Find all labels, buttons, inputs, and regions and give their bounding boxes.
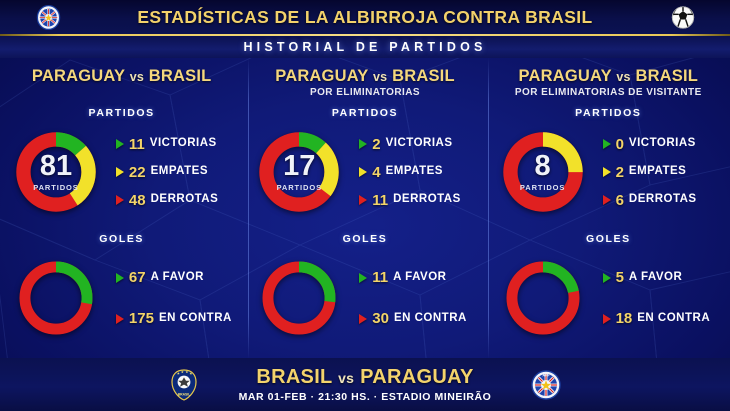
legend-label: EN CONTRA xyxy=(637,313,710,325)
section-label-goals: GOLES xyxy=(487,233,730,245)
green-triangle-icon xyxy=(359,139,367,149)
legend-row: 6 DERROTAS xyxy=(603,193,730,208)
green-triangle-icon xyxy=(116,139,124,149)
legend-value: 22 xyxy=(129,165,146,180)
column-title: PARAGUAY vs BRASIL xyxy=(243,67,486,86)
goals-donut-chart xyxy=(258,257,340,339)
footer-inner: ★★★★ BRASIL BRASIL vs PARAGUAY MAR 01-FE… xyxy=(167,366,564,403)
legend-value: 18 xyxy=(616,311,633,326)
goals-legend: 67 A FAVOR 175 EN CONTRA xyxy=(112,270,243,326)
legend-value: 11 xyxy=(129,137,145,152)
goals-donut-wrap xyxy=(0,257,112,339)
soccer-ball-icon xyxy=(668,4,698,31)
goals-legend: 5 A FAVOR 18 EN CONTRA xyxy=(599,270,730,326)
matches-donut-chart: 81 PARTIDOS xyxy=(13,129,99,215)
legend-label: DERROTAS xyxy=(629,194,697,206)
legend-label: VICTORIAS xyxy=(150,138,217,150)
legend-value: 5 xyxy=(616,270,624,285)
legend-value: 2 xyxy=(616,165,624,180)
legend-row: 48 DERROTAS xyxy=(116,193,243,208)
legend-value: 67 xyxy=(129,270,146,285)
footer-title: BRASIL vs PARAGUAY xyxy=(239,366,492,389)
section-label-goals: GOLES xyxy=(243,233,486,245)
column-subtitle: POR ELIMINATORIAS DE VISITANTE xyxy=(487,87,730,99)
goals-block: 67 A FAVOR 175 EN CONTRA xyxy=(0,245,243,351)
section-label-goals: GOLES xyxy=(0,233,243,245)
stats-column-qualifiers-away: PARAGUAY vs BRASIL POR ELIMINATORIAS DE … xyxy=(487,58,730,358)
legend-value: 48 xyxy=(129,193,146,208)
legend-label: A FAVOR xyxy=(393,272,446,284)
green-triangle-icon xyxy=(603,139,611,149)
legend-row: 30 EN CONTRA xyxy=(359,311,486,326)
legend-row: 67 A FAVOR xyxy=(116,270,243,285)
matches-donut-chart: 17 PARTIDOS xyxy=(256,129,342,215)
matches-block: 17 PARTIDOS 2 VICTORIAS 4 EMPATES xyxy=(243,119,486,225)
red-triangle-icon xyxy=(359,195,367,205)
goals-block: 11 A FAVOR 30 EN CONTRA xyxy=(243,245,486,351)
legend-row: 5 A FAVOR xyxy=(603,270,730,285)
apf-paraguay-crest-icon: APF xyxy=(32,4,65,31)
svg-text:BRASIL: BRASIL xyxy=(177,392,190,396)
legend-value: 30 xyxy=(372,311,389,326)
legend-label: A FAVOR xyxy=(629,272,682,284)
svg-text:★: ★ xyxy=(188,371,192,375)
svg-text:APF: APF xyxy=(543,373,551,377)
legend-row: 0 VICTORIAS xyxy=(603,137,730,152)
legend-label: EMPATES xyxy=(629,166,686,178)
legend-label: EMPATES xyxy=(151,166,208,178)
goals-block: 5 A FAVOR 18 EN CONTRA xyxy=(487,245,730,351)
legend-label: EN CONTRA xyxy=(394,313,467,325)
legend-label: EN CONTRA xyxy=(159,313,232,325)
column-vs: vs xyxy=(130,70,144,84)
legend-row: 2 VICTORIAS xyxy=(359,137,486,152)
svg-text:APF: APF xyxy=(45,7,51,11)
matches-legend: 0 VICTORIAS 2 EMPATES 6 DERROTAS xyxy=(599,137,730,208)
legend-label: DERROTAS xyxy=(393,194,461,206)
legend-label: VICTORIAS xyxy=(629,138,696,150)
matches-legend: 2 VICTORIAS 4 EMPATES 11 DERROTAS xyxy=(355,137,486,208)
matches-legend: 11 VICTORIAS 22 EMPATES 48 DERROTAS xyxy=(112,137,243,208)
column-vs: vs xyxy=(616,70,630,84)
matches-donut-wrap: 81 PARTIDOS xyxy=(0,129,112,215)
legend-label: A FAVOR xyxy=(151,272,204,284)
red-triangle-icon xyxy=(116,195,124,205)
footer-meta: MAR 01-FEB · 21:30 HS. · ESTADIO MINEIRÃ… xyxy=(239,391,492,403)
legend-row: 175 EN CONTRA xyxy=(116,311,243,326)
green-triangle-icon xyxy=(116,273,124,283)
column-team-b: BRASIL xyxy=(392,67,455,85)
apf-paraguay-crest-icon: APF xyxy=(529,368,563,402)
goals-legend: 11 A FAVOR 30 EN CONTRA xyxy=(355,270,486,326)
cbf-brasil-crest-icon: ★★★★ BRASIL xyxy=(167,368,201,402)
matches-donut-chart: 8 PARTIDOS xyxy=(500,129,586,215)
section-label-matches: PARTIDOS xyxy=(0,107,243,119)
legend-value: 11 xyxy=(372,193,388,208)
legend-row: 2 EMPATES xyxy=(603,165,730,180)
legend-label: VICTORIAS xyxy=(386,138,453,150)
column-subtitle xyxy=(0,87,243,99)
legend-value: 2 xyxy=(372,137,380,152)
column-vs: vs xyxy=(373,70,387,84)
matches-block: 81 PARTIDOS 11 VICTORIAS 22 EMPATES xyxy=(0,119,243,225)
footer-team-b: PARAGUAY xyxy=(360,366,474,388)
legend-row: 11 DERROTAS xyxy=(359,193,486,208)
matches-block: 8 PARTIDOS 0 VICTORIAS 2 EMPATES xyxy=(487,119,730,225)
goals-donut-wrap xyxy=(243,257,355,339)
column-team-b: BRASIL xyxy=(149,67,212,85)
legend-row: 11 A FAVOR xyxy=(359,270,486,285)
legend-row: 11 VICTORIAS xyxy=(116,137,243,152)
legend-row: 4 EMPATES xyxy=(359,165,486,180)
svg-text:★: ★ xyxy=(184,369,188,373)
stats-column-overall: PARAGUAY vs BRASIL PARTIDOS 81 xyxy=(0,58,243,358)
stats-columns: PARAGUAY vs BRASIL PARTIDOS 81 xyxy=(0,58,730,358)
matches-donut-wrap: 17 PARTIDOS xyxy=(243,129,355,215)
yellow-triangle-icon xyxy=(359,167,367,177)
red-triangle-icon xyxy=(359,314,367,324)
column-team-a: PARAGUAY xyxy=(32,67,125,85)
goals-donut-chart xyxy=(502,257,584,339)
legend-row: 18 EN CONTRA xyxy=(603,311,730,326)
footer-team-a: BRASIL xyxy=(256,366,332,388)
legend-value: 0 xyxy=(616,137,624,152)
subtitle-bar: HISTORIAL DE PARTIDOS xyxy=(0,36,730,58)
svg-text:★: ★ xyxy=(176,371,180,375)
red-triangle-icon xyxy=(603,195,611,205)
legend-row: 22 EMPATES xyxy=(116,165,243,180)
red-triangle-icon xyxy=(116,314,124,324)
green-triangle-icon xyxy=(603,273,611,283)
column-team-a: PARAGUAY xyxy=(519,67,612,85)
legend-value: 175 xyxy=(129,311,154,326)
legend-value: 6 xyxy=(616,193,624,208)
column-subtitle: POR ELIMINATORIAS xyxy=(243,87,486,99)
section-label-matches: PARTIDOS xyxy=(487,107,730,119)
legend-label: DERROTAS xyxy=(151,194,219,206)
footer-bar: ★★★★ BRASIL BRASIL vs PARAGUAY MAR 01-FE… xyxy=(0,358,730,411)
section-label-matches: PARTIDOS xyxy=(243,107,486,119)
yellow-triangle-icon xyxy=(116,167,124,177)
legend-value: 11 xyxy=(372,270,388,285)
svg-text:★: ★ xyxy=(180,369,184,373)
footer-match-info: BRASIL vs PARAGUAY MAR 01-FEB · 21:30 HS… xyxy=(239,366,492,403)
column-title: PARAGUAY vs BRASIL xyxy=(0,67,243,86)
subtitle-text: HISTORIAL DE PARTIDOS xyxy=(243,40,486,54)
column-title: PARAGUAY vs BRASIL xyxy=(487,67,730,86)
page-title: ESTADÍSTICAS DE LA ALBIRROJA CONTRA BRAS… xyxy=(137,7,592,28)
header-bar: ESTADÍSTICAS DE LA ALBIRROJA CONTRA BRAS… xyxy=(0,0,730,34)
goals-donut-chart xyxy=(15,257,97,339)
matches-donut-wrap: 8 PARTIDOS xyxy=(487,129,599,215)
green-triangle-icon xyxy=(359,273,367,283)
legend-value: 4 xyxy=(372,165,380,180)
infographic-stage: ESTADÍSTICAS DE LA ALBIRROJA CONTRA BRAS… xyxy=(0,0,730,411)
goals-donut-wrap xyxy=(487,257,599,339)
column-team-a: PARAGUAY xyxy=(275,67,368,85)
red-triangle-icon xyxy=(603,314,611,324)
legend-label: EMPATES xyxy=(386,166,443,178)
yellow-triangle-icon xyxy=(603,167,611,177)
column-team-b: BRASIL xyxy=(635,67,698,85)
stats-column-qualifiers: PARAGUAY vs BRASIL POR ELIMINATORIAS PAR… xyxy=(243,58,486,358)
footer-vs: vs xyxy=(338,370,354,386)
